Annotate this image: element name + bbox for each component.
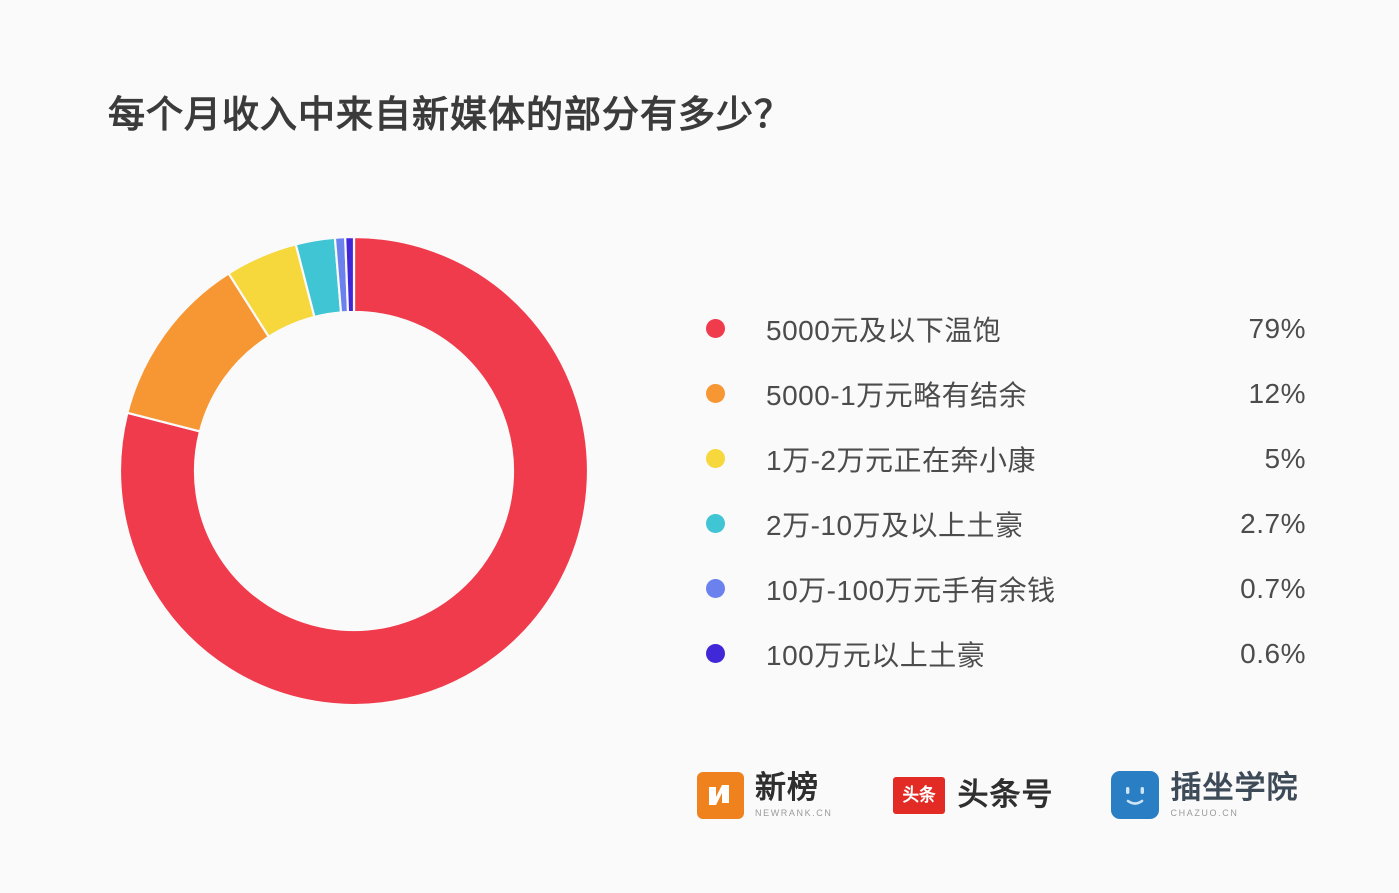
legend-item-label: 1万-2万元正在奔小康 xyxy=(766,439,1188,479)
logo-chazuo[interactable]: 插坐学院 CHAZUO.CN xyxy=(1111,771,1299,819)
chart-legend: 5000元及以下温饱 79% 5000-1万元略有结余 12% 1万-2万元正在… xyxy=(706,296,1306,686)
legend-item-value: 0.6% xyxy=(1188,638,1306,670)
legend-color-swatch-icon xyxy=(706,319,725,338)
legend-item-value: 12% xyxy=(1188,378,1306,410)
legend-color-swatch-icon xyxy=(706,384,725,403)
legend-item-3[interactable]: 2万-10万及以上土豪 2.7% xyxy=(706,491,1306,556)
legend-item-2[interactable]: 1万-2万元正在奔小康 5% xyxy=(706,426,1306,491)
legend-item-0[interactable]: 5000元及以下温饱 79% xyxy=(706,296,1306,361)
chazuo-logo-icon xyxy=(1111,771,1159,819)
legend-item-4[interactable]: 10万-100万元手有余钱 0.7% xyxy=(706,556,1306,621)
legend-item-label: 2万-10万及以上土豪 xyxy=(766,504,1188,544)
legend-item-label: 5000-1万元略有结余 xyxy=(766,374,1188,414)
logo-toutiaohao-name: 头条号 xyxy=(958,779,1054,812)
donut-chart xyxy=(118,235,590,707)
legend-color-swatch-icon xyxy=(706,514,725,533)
legend-item-5[interactable]: 100万元以上土豪 0.6% xyxy=(706,621,1306,686)
logo-newrank-subtitle: NEWRANK.CN xyxy=(755,808,833,818)
legend-item-label: 10万-100万元手有余钱 xyxy=(766,569,1188,609)
legend-item-label: 5000元及以下温饱 xyxy=(766,309,1188,349)
legend-item-1[interactable]: 5000-1万元略有结余 12% xyxy=(706,361,1306,426)
legend-item-value: 79% xyxy=(1188,313,1306,345)
donut-slice[interactable] xyxy=(345,237,354,312)
logo-toutiaohao[interactable]: 头条 头条号 xyxy=(893,777,1054,814)
legend-color-swatch-icon xyxy=(706,579,725,598)
legend-item-value: 0.7% xyxy=(1188,573,1306,605)
legend-color-swatch-icon xyxy=(706,449,725,468)
donut-chart-svg xyxy=(118,235,590,707)
legend-color-swatch-icon xyxy=(706,644,725,663)
newrank-logo-icon xyxy=(697,772,744,819)
logo-chazuo-subtitle: CHAZUO.CN xyxy=(1171,808,1299,818)
toutiao-logo-mark-text: 头条 xyxy=(902,786,935,804)
logo-newrank-name: 新榜 xyxy=(755,772,833,805)
toutiao-logo-icon: 头条 xyxy=(893,777,945,814)
logo-newrank[interactable]: 新榜 NEWRANK.CN xyxy=(697,772,833,819)
footer-logos: 新榜 NEWRANK.CN 头条 头条号 插坐学院 CHAZUO.CN xyxy=(697,771,1299,819)
legend-item-value: 2.7% xyxy=(1188,508,1306,540)
legend-item-value: 5% xyxy=(1188,443,1306,475)
logo-chazuo-name: 插坐学院 xyxy=(1171,772,1299,805)
legend-item-label: 100万元以上土豪 xyxy=(766,634,1188,674)
page-title: 每个月收入中来自新媒体的部分有多少？ xyxy=(108,84,792,138)
